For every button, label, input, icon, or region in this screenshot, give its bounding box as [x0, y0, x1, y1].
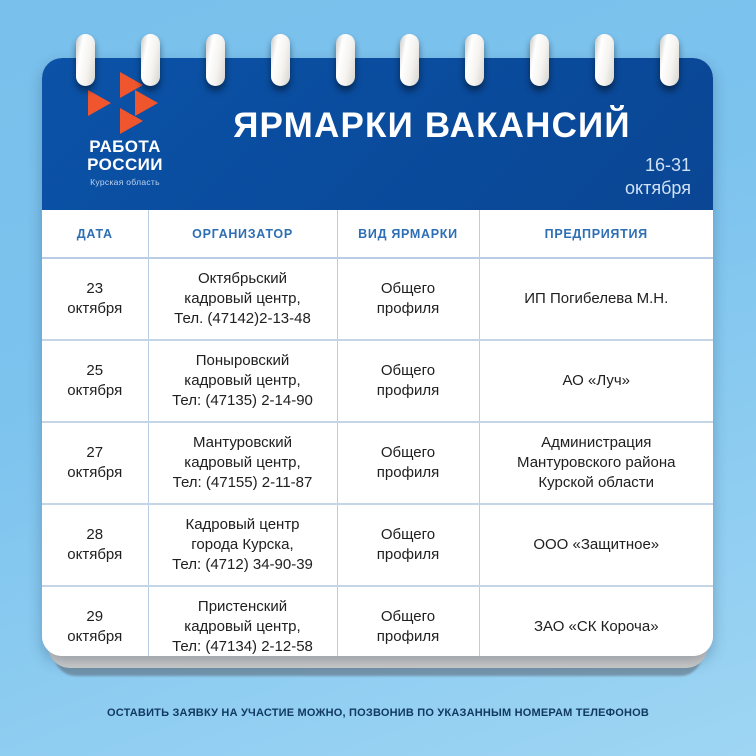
table-header: ДАТА ОРГАНИЗАТОР ВИД ЯРМАРКИ ПРЕДПРИЯТИЯ: [42, 210, 713, 258]
cell-fair-type: Общегопрофиля: [337, 422, 479, 504]
cell-text-line: профиля: [346, 627, 471, 647]
job-fairs-table: ДАТА ОРГАНИЗАТОР ВИД ЯРМАРКИ ПРЕДПРИЯТИЯ…: [42, 210, 713, 656]
table-row: 23октябряОктябрьскийкадровый центр,Тел. …: [42, 258, 713, 340]
cell-fair-type: Общегопрофиля: [337, 340, 479, 422]
cell-text-line: ЗАО «СК Короча»: [488, 617, 706, 637]
cell-organizer: Пристенскийкадровый центр,Тел: (47134) 2…: [148, 586, 337, 656]
cell-date: 23октября: [42, 258, 148, 340]
pinwheel-triangles-icon: [88, 72, 162, 134]
logo-region-label: Курская область: [64, 177, 186, 187]
cell-text-line: октября: [50, 381, 140, 401]
cell-organizer: Мантуровскийкадровый центр,Тел: (47155) …: [148, 422, 337, 504]
logo-text-line2: РОССИИ: [64, 156, 186, 174]
logo-text-line1: РАБОТА: [64, 138, 186, 156]
cell-text-line: ООО «Защитное»: [488, 535, 706, 555]
cell-text-line: Курской области: [488, 473, 706, 493]
table-row: 28октябряКадровый центргорода Курска,Тел…: [42, 504, 713, 586]
cell-text-line: Тел: (47135) 2-14-90: [157, 391, 329, 411]
cell-text-line: профиля: [346, 463, 471, 483]
cell-text-line: Общего: [346, 525, 471, 545]
cell-text-line: Тел: (47134) 2-12-58: [157, 637, 329, 656]
cell-text-line: октября: [50, 627, 140, 647]
cell-text-line: 25: [50, 361, 140, 381]
cell-organizer: Октябрьскийкадровый центр,Тел. (47142)2-…: [148, 258, 337, 340]
cell-text-line: октября: [50, 545, 140, 565]
date-range-line1: 16-31: [625, 154, 691, 177]
column-header-date: ДАТА: [42, 210, 148, 258]
cell-text-line: ИП Погибелева М.Н.: [488, 289, 706, 309]
cell-text-line: 29: [50, 607, 140, 627]
cell-text-line: Общего: [346, 279, 471, 299]
cell-text-line: кадровый центр,: [157, 371, 329, 391]
cell-enterprise: АдминистрацияМантуровского районаКурской…: [479, 422, 713, 504]
cell-date: 29октября: [42, 586, 148, 656]
cell-text-line: Администрация: [488, 433, 706, 453]
triangle-left-icon: [88, 90, 111, 116]
cell-text-line: Кадровый центр: [157, 515, 329, 535]
cell-fair-type: Общегопрофиля: [337, 258, 479, 340]
cell-enterprise: ИП Погибелева М.Н.: [479, 258, 713, 340]
cell-text-line: Общего: [346, 361, 471, 381]
page-title: ЯРМАРКИ ВАКАНСИЙ: [197, 106, 667, 146]
cell-text-line: профиля: [346, 545, 471, 565]
date-range: 16-31 октября: [625, 154, 691, 200]
cell-enterprise: ЗАО «СК Короча»: [479, 586, 713, 656]
cell-text-line: города Курска,: [157, 535, 329, 555]
cell-text-line: кадровый центр,: [157, 453, 329, 473]
table-row: 25октябряПоныровскийкадровый центр,Тел: …: [42, 340, 713, 422]
footer-note: ОСТАВИТЬ ЗАЯВКУ НА УЧАСТИЕ МОЖНО, ПОЗВОН…: [0, 707, 756, 719]
triangle-bottom-icon: [120, 108, 143, 134]
cell-fair-type: Общегопрофиля: [337, 504, 479, 586]
cell-text-line: Общего: [346, 607, 471, 627]
cell-text-line: АО «Луч»: [488, 371, 706, 391]
cell-text-line: Тел. (47142)2-13-48: [157, 309, 329, 329]
cell-text-line: кадровый центр,: [157, 617, 329, 637]
cell-text-line: профиля: [346, 381, 471, 401]
table-body: 23октябряОктябрьскийкадровый центр,Тел. …: [42, 258, 713, 656]
cell-date: 27октября: [42, 422, 148, 504]
cell-text-line: Тел: (47155) 2-11-87: [157, 473, 329, 493]
cell-text-line: 27: [50, 443, 140, 463]
calendar-card: РАБОТА РОССИИ Курская область ЯРМАРКИ ВА…: [42, 58, 713, 656]
cell-text-line: октября: [50, 463, 140, 483]
cell-text-line: Тел: (4712) 34-90-39: [157, 555, 329, 575]
cell-text-line: 28: [50, 525, 140, 545]
cell-text-line: Общего: [346, 443, 471, 463]
cell-organizer: Поныровскийкадровый центр,Тел: (47135) 2…: [148, 340, 337, 422]
cell-organizer: Кадровый центргорода Курска,Тел: (4712) …: [148, 504, 337, 586]
cell-text-line: Мантуровского района: [488, 453, 706, 473]
card-header: РАБОТА РОССИИ Курская область ЯРМАРКИ ВА…: [42, 58, 713, 210]
column-header-enterprises: ПРЕДПРИЯТИЯ: [479, 210, 713, 258]
column-header-fair-type: ВИД ЯРМАРКИ: [337, 210, 479, 258]
rabota-rossii-logo: РАБОТА РОССИИ Курская область: [64, 72, 186, 187]
cell-text-line: профиля: [346, 299, 471, 319]
date-range-line2: октября: [625, 177, 691, 200]
cell-date: 25октября: [42, 340, 148, 422]
cell-enterprise: АО «Луч»: [479, 340, 713, 422]
cell-text-line: кадровый центр,: [157, 289, 329, 309]
table-header-row: ДАТА ОРГАНИЗАТОР ВИД ЯРМАРКИ ПРЕДПРИЯТИЯ: [42, 210, 713, 258]
table-row: 27октябряМантуровскийкадровый центр,Тел:…: [42, 422, 713, 504]
column-header-organizer: ОРГАНИЗАТОР: [148, 210, 337, 258]
poster-canvas: РАБОТА РОССИИ Курская область ЯРМАРКИ ВА…: [0, 0, 756, 756]
cell-text-line: Октябрьский: [157, 269, 329, 289]
cell-text-line: Пристенский: [157, 597, 329, 617]
cell-text-line: 23: [50, 279, 140, 299]
cell-text-line: октября: [50, 299, 140, 319]
cell-enterprise: ООО «Защитное»: [479, 504, 713, 586]
cell-fair-type: Общегопрофиля: [337, 586, 479, 656]
cell-text-line: Мантуровский: [157, 433, 329, 453]
cell-date: 28октября: [42, 504, 148, 586]
table-row: 29октябряПристенскийкадровый центр,Тел: …: [42, 586, 713, 656]
cell-text-line: Поныровский: [157, 351, 329, 371]
